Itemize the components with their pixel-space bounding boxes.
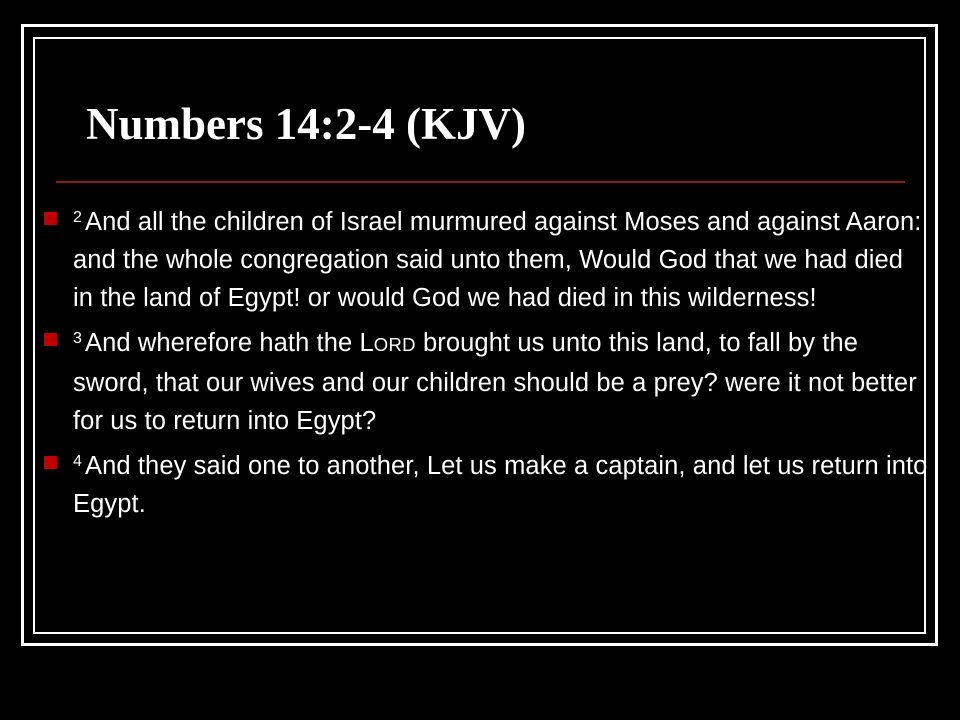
list-item: 2And all the children of Israel murmured… [44, 199, 928, 317]
verse-list: 2And all the children of Israel murmured… [44, 199, 928, 526]
bullet-square-icon [44, 456, 57, 469]
verse-body: And all the children of Israel murmured … [73, 208, 921, 312]
verse-body: And they said one to another, Let us mak… [73, 452, 927, 518]
presentation-slide: Numbers 14:2-4 (KJV) 2And all the childr… [0, 0, 960, 720]
verse-text: 2And all the children of Israel murmured… [73, 199, 928, 317]
list-item: 3And wherefore hath the LORD brought us … [44, 320, 928, 440]
bullet-square-icon [44, 212, 57, 225]
verse-number: 2 [73, 209, 85, 226]
slide-title: Numbers 14:2-4 (KJV) [86, 99, 886, 149]
verse-text: 4And they said one to another, Let us ma… [73, 443, 928, 523]
verse-number: 3 [73, 330, 85, 347]
verse-text: 3And wherefore hath the LORD brought us … [73, 320, 928, 440]
list-item: 4And they said one to another, Let us ma… [44, 443, 928, 523]
verse-body-before: And wherefore hath the [85, 329, 359, 357]
divine-name-smallcaps: ORD [374, 334, 416, 355]
bullet-square-icon [44, 333, 57, 346]
title-divider-rule [56, 181, 905, 183]
divine-name-capital: L [359, 329, 373, 357]
verse-number: 4 [73, 453, 85, 470]
